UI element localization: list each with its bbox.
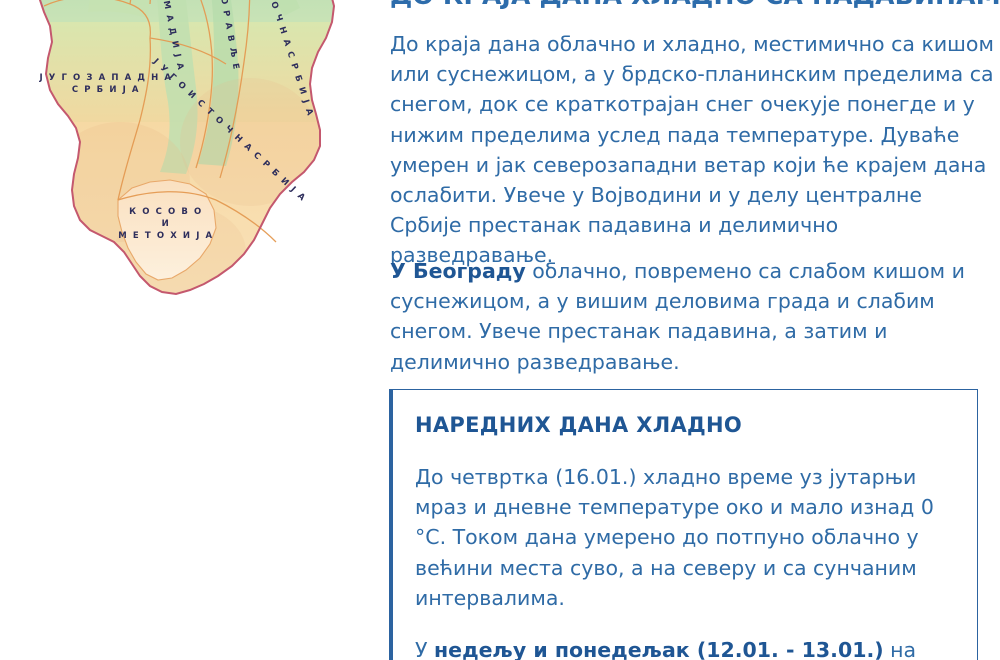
outlook-title: НАРЕДНИХ ДАНА ХЛАДНО xyxy=(415,410,961,440)
belgrade-forecast-lead: У Београду xyxy=(390,259,526,283)
map-label-kosovo: К О С О В О xyxy=(129,207,203,217)
article-column: ДО КРАЈА ДАНА ХЛАДНО СА ПАДАВИНАМА До кр… xyxy=(385,0,1000,660)
outlook-paragraph-1: До четвртка (16.01.) хладно време уз јут… xyxy=(415,462,961,613)
outlook-panel: НАРЕДНИХ ДАНА ХЛАДНО До четвртка (16.01.… xyxy=(389,389,978,660)
belgrade-forecast: У Београду облачно, повремено са слабом … xyxy=(390,256,998,377)
forecast-lede: До краја дана облачно и хладно, местимич… xyxy=(390,29,998,271)
map-column: С Р Е М Б А Н А Т БЕОГРАД З А П А Д Н А … xyxy=(0,0,385,660)
outlook-paragraph-2-dates: недељу и понедељак (12.01. - 13.01.) xyxy=(434,638,884,660)
page-title: ДО КРАЈА ДАНА ХЛАДНО СА ПАДАВИНАМА xyxy=(390,0,1000,11)
outlook-paragraph-2-pre: У xyxy=(415,638,434,660)
weather-forecast-page: С Р Е М Б А Н А Т БЕОГРАД З А П А Д Н А … xyxy=(0,0,1000,660)
outlook-paragraph-2: У недељу и понедељак (12.01. - 13.01.) н… xyxy=(415,635,961,660)
map-label-jugozapadna-srbija: Ј У Г О З А П А Д Н А xyxy=(38,73,172,83)
serbia-region-map: С Р Е М Б А Н А Т БЕОГРАД З А П А Д Н А … xyxy=(0,0,370,402)
map-label-jugozapadna-srbija-2: С Р Б И Ј А xyxy=(72,85,140,95)
map-label-kosovo-2: И xyxy=(162,219,171,229)
map-label-kosovo-3: М Е Т О Х И Ј А xyxy=(118,231,213,241)
